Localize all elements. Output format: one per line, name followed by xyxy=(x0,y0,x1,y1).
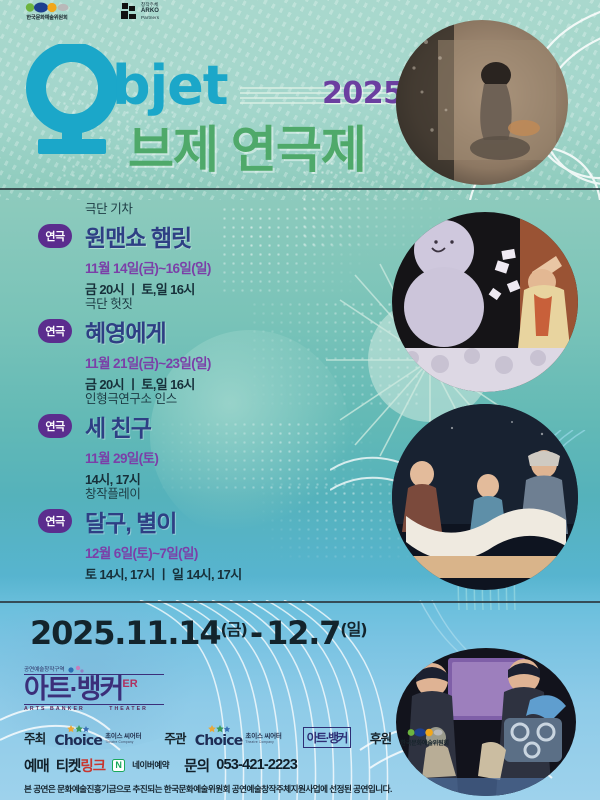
arko-partners-mark-icon xyxy=(120,2,137,20)
genre-badge: 연극 xyxy=(38,319,72,343)
sponsor-choice-wordmark-1: Choice xyxy=(54,733,102,749)
program-troupe: 창작플레이 xyxy=(85,483,330,502)
date-range-start: 2025.11.14 xyxy=(30,614,220,652)
date-range-end: 12.7 xyxy=(266,614,340,652)
sponsor-label-host: 주최 xyxy=(24,728,45,747)
program-item[interactable]: 연극 창작플레이 달구, 별이 12월 6일(토)~7일(일) 토 14시, 1… xyxy=(0,483,330,578)
ticketlink-link[interactable]: 티켓링크 xyxy=(56,755,105,776)
sponsor-label-organizer: 주관 xyxy=(164,728,185,747)
sponsor-label-support: 후원 xyxy=(370,728,391,747)
arko-council-label: 한국문화예술위원회 xyxy=(26,14,67,21)
genre-badge: 연극 xyxy=(38,224,72,248)
booking-label: 예매 xyxy=(24,755,49,776)
ticketlink-red: 링크 xyxy=(80,759,105,775)
program-item[interactable]: 연극 극단 헛짓 혜영에게 11월 21일(금)~23일(일) 금 20시 ㅣ … xyxy=(0,293,330,388)
naver-booking-label[interactable]: 네이버예약 xyxy=(132,759,169,771)
arko-partners-line3: Partners xyxy=(141,15,159,21)
date-range-start-day: (금) xyxy=(220,620,246,639)
sponsor-choice-en-2: Theatre Company xyxy=(245,740,281,744)
genre-badge: 연극 xyxy=(38,414,72,438)
funding-disclaimer: 본 공연은 문화예술진흥기금으로 추진되는 한국문화예술위원회 공연예술창작주체… xyxy=(24,783,584,795)
photo-one-man-show-hamlet-image xyxy=(396,20,568,185)
program-title: 원맨쇼 햄릿 xyxy=(85,219,330,253)
program-title: 혜영에게 xyxy=(85,314,330,348)
program-title: 세 친구 xyxy=(85,409,330,443)
date-range-end-day: (일) xyxy=(340,620,366,639)
ticketlink-black: 티켓 xyxy=(56,759,81,775)
divider-top xyxy=(0,188,600,190)
header-logo-row: 한국문화예술위원회 창작주체 ARKO Partners xyxy=(0,0,600,24)
divider-middle xyxy=(0,601,600,603)
program-list: 연극 극단 기차 원맨쇼 햄릿 11월 14일(금)~16일(일) 금 20시 … xyxy=(0,198,330,578)
photo-to-hyeyoung-image xyxy=(392,212,578,392)
naver-icon[interactable]: N xyxy=(112,759,125,772)
program-title: 달구, 별이 xyxy=(85,504,330,538)
arko-council-mark-icon xyxy=(405,728,445,737)
festival-date-range: 2025.11.14(금)-12.7(일) xyxy=(30,614,367,652)
program-date: 11월 29일(토) xyxy=(85,447,330,467)
program-date: 11월 14일(금)~16일(일) xyxy=(85,257,330,277)
sponsor-arko-council: 한국문화예술위원회 xyxy=(400,728,449,747)
festival-title-kr: 브제 연극제 xyxy=(128,110,366,182)
photo-to-hyeyoung xyxy=(392,212,578,392)
choice-stars-icon xyxy=(67,725,89,733)
venue-logo-sub: 공연예술창작구역 xyxy=(24,665,64,673)
sponsor-choice-kr-1: 초이스 씨어터 xyxy=(105,730,141,740)
venue-logo-main: 아트·뱅커 xyxy=(24,674,122,704)
venue-logo-foot-left: ARTS BANKER xyxy=(24,706,85,712)
date-range-dash: - xyxy=(250,614,263,652)
objet-o-logo-icon xyxy=(24,44,120,156)
booking-row: 예매 티켓링크 N 네이버예약 문의 053-421-2223 xyxy=(24,755,584,775)
arko-partners-line2: ARKO xyxy=(141,8,159,16)
program-date: 11월 21일(금)~23일(일) xyxy=(85,352,330,372)
festival-year: 2025 xyxy=(322,76,404,111)
program-item[interactable]: 연극 극단 기차 원맨쇼 햄릿 11월 14일(금)~16일(일) 금 20시 … xyxy=(0,198,330,293)
arko-partners-logo: 창작주체 ARKO Partners xyxy=(120,2,159,21)
sponsor-choice-theatre-1: Choice 초이스 씨어터 Theatre Company xyxy=(54,725,141,749)
sponsor-art-banker: 아트·뱅커 xyxy=(303,727,351,748)
program-time: 토 14시, 17시 ㅣ 일 14시, 17시 xyxy=(85,564,330,583)
photo-one-man-show-hamlet xyxy=(396,20,568,185)
arko-council-mark-icon xyxy=(24,2,70,13)
sponsor-choice-theatre-2: Choice 초이스 씨어터 Theatre Company xyxy=(195,725,282,749)
venue-logo[interactable]: 공연예술창작구역 아트·뱅커ER ARTS BANKER THEATER xyxy=(24,665,164,719)
poster-root: 한국문화예술위원회 창작주체 ARKO Partners bjet xyxy=(0,0,600,800)
sponsor-choice-en-1: Theatre Company xyxy=(105,740,141,744)
sponsor-choice-wordmark-2: Choice xyxy=(195,733,243,749)
choice-stars-icon xyxy=(208,725,230,733)
arko-council-logo: 한국문화예술위원회 xyxy=(24,2,70,21)
program-date: 12월 6일(토)~7일(일) xyxy=(85,542,330,562)
venue-logo-foot-right: THEATER xyxy=(109,706,148,712)
genre-badge: 연극 xyxy=(38,509,72,533)
sponsor-choice-kr-2: 초이스 씨어터 xyxy=(245,730,281,740)
program-troupe: 극단 헛짓 xyxy=(85,293,330,312)
inquiry-phone[interactable]: 053-421-2223 xyxy=(216,757,297,773)
photo-three-friends xyxy=(392,404,578,590)
program-item[interactable]: 연극 인형극연구소 인스 세 친구 11월 29일(토) 14시, 17시 xyxy=(0,388,330,483)
venue-logo-er: ER xyxy=(122,678,137,690)
venue-logo-dots-icon xyxy=(68,665,84,673)
program-troupe: 극단 기차 xyxy=(85,198,330,217)
sponsor-row: 주최 Choice 초이스 씨어터 Theatre Company 주관 xyxy=(24,725,584,749)
inquiry-label: 문의 xyxy=(184,755,209,776)
photo-three-friends-image xyxy=(392,404,578,590)
program-troupe: 인형극연구소 인스 xyxy=(85,388,330,407)
festival-logo-latin: bjet xyxy=(112,54,228,117)
festival-title-block: bjet 2025 브제 연극제 xyxy=(24,48,424,178)
sponsor-arko-label: 한국문화예술위원회 xyxy=(400,738,449,747)
